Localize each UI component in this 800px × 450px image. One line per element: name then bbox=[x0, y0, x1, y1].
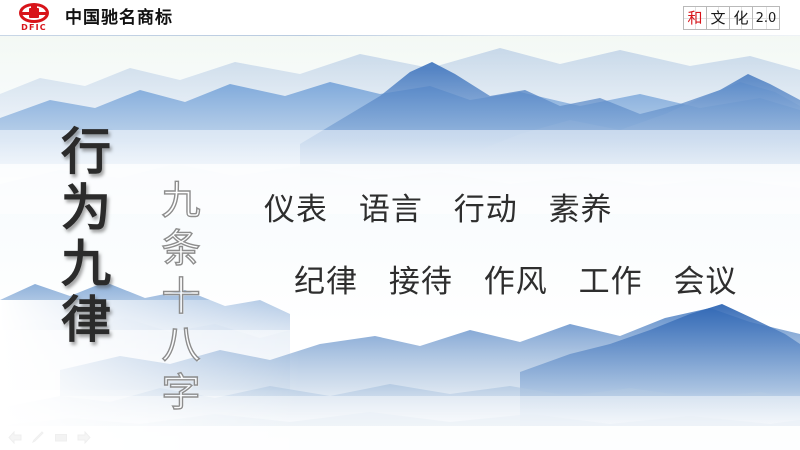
hewenhua-badge: 和 文 化 2.0 bbox=[684, 6, 780, 30]
slide-menu-button[interactable] bbox=[54, 431, 68, 444]
mountain-range-bottom bbox=[0, 300, 800, 450]
dfic-logo-mark-text: DFIC bbox=[18, 23, 50, 32]
sub-title-char-3: 十 bbox=[155, 274, 207, 322]
slide-header: DFIC 中国驰名商标 和 文 化 2.0 bbox=[0, 0, 800, 36]
sub-title-char-4: 八 bbox=[155, 322, 207, 370]
main-title-char-2: 为 bbox=[55, 180, 117, 236]
sub-title-char-1: 九 bbox=[155, 178, 207, 226]
slideshow-controls bbox=[8, 431, 91, 444]
presentation-slide: DFIC 中国驰名商标 和 文 化 2.0 行 为 九 律 九 条 十 bbox=[0, 0, 800, 450]
badge-cell-he: 和 bbox=[683, 6, 707, 30]
pen-tool-button[interactable] bbox=[31, 431, 45, 444]
badge-cell-hua: 化 bbox=[729, 6, 753, 30]
content-word-jilv: 纪律 bbox=[294, 264, 358, 300]
main-title-char-3: 九 bbox=[55, 236, 117, 292]
badge-cell-wen-text: 文 bbox=[710, 11, 725, 26]
arrow-right-icon bbox=[77, 431, 91, 444]
main-title-vertical: 行 为 九 律 bbox=[55, 124, 117, 348]
dfic-logo-icon: DFIC bbox=[12, 3, 56, 33]
rectangle-icon bbox=[54, 431, 68, 444]
content-word-yibiao: 仪表 bbox=[264, 192, 328, 228]
sub-title-char-5: 字 bbox=[155, 370, 207, 418]
sub-title-vertical: 九 条 十 八 字 bbox=[155, 178, 207, 418]
badge-cell-he-text: 和 bbox=[687, 11, 702, 26]
main-title-char-4: 律 bbox=[55, 292, 117, 348]
brand-block: DFIC 中国驰名商标 bbox=[12, 3, 173, 33]
previous-slide-button[interactable] bbox=[8, 431, 22, 444]
content-word-suyang: 素养 bbox=[549, 192, 613, 228]
pen-icon bbox=[31, 431, 45, 444]
badge-cell-wen: 文 bbox=[706, 6, 730, 30]
next-slide-button[interactable] bbox=[77, 431, 91, 444]
sub-title-char-2: 条 bbox=[155, 226, 207, 274]
content-line-1: 仪表 语言 行动 素养 bbox=[250, 190, 770, 230]
content-word-yuyan: 语言 bbox=[359, 192, 423, 228]
content-word-gongzuo: 工作 bbox=[579, 264, 643, 300]
badge-cell-hua-text: 化 bbox=[733, 11, 748, 26]
content-line-2: 纪律 接待 作风 工作 会议 bbox=[250, 262, 770, 302]
content-word-xingdong: 行动 bbox=[454, 192, 518, 228]
badge-cell-version: 2.0 bbox=[752, 6, 780, 30]
content-word-block: 仪表 语言 行动 素养 纪律 接待 作风 工作 会议 bbox=[250, 190, 770, 302]
badge-cell-version-text: 2.0 bbox=[756, 12, 777, 25]
arrow-left-icon bbox=[8, 431, 22, 444]
brand-name: 中国驰名商标 bbox=[65, 3, 173, 33]
mountain-range-top bbox=[0, 34, 800, 214]
content-word-jiedai: 接待 bbox=[389, 264, 453, 300]
main-title-char-1: 行 bbox=[55, 124, 117, 180]
content-word-zuofeng: 作风 bbox=[484, 264, 548, 300]
content-word-huiyi: 会议 bbox=[673, 264, 737, 300]
header-divider bbox=[0, 35, 800, 36]
